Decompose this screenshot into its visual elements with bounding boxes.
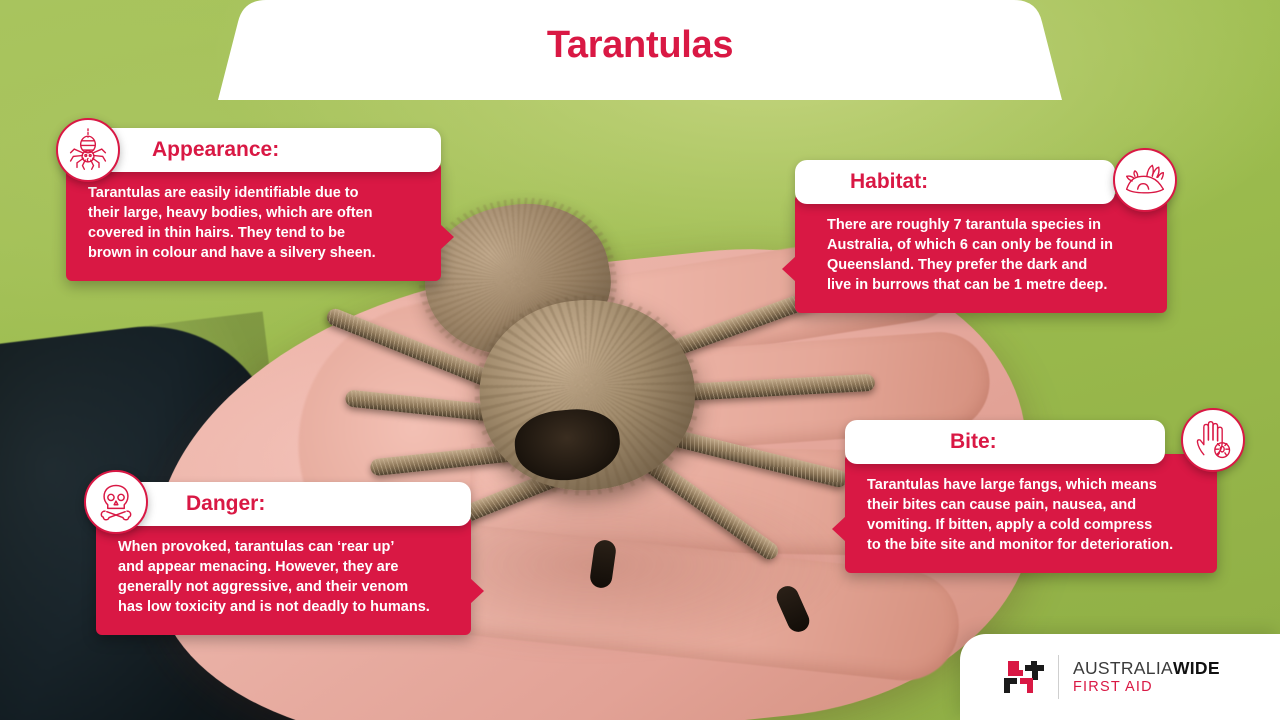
spider-icon bbox=[56, 118, 120, 182]
tarantula-leg-tip bbox=[589, 539, 617, 590]
info-card-danger: Danger: When provoked, tarantulas can ‘r… bbox=[96, 482, 471, 635]
card-body-bite: Tarantulas have large fangs, which means… bbox=[845, 454, 1217, 573]
hand-bite-icon bbox=[1181, 408, 1245, 472]
card-title-habitat: Habitat: bbox=[795, 160, 1115, 204]
card-text-line: and appear menacing. However, they are bbox=[118, 558, 449, 578]
burrow-icon bbox=[1113, 148, 1177, 212]
info-card-habitat: Habitat: There are roughly 7 tarantula s… bbox=[795, 160, 1167, 313]
page-title: Tarantulas bbox=[0, 24, 1280, 67]
card-text-line: Queensland. They prefer the dark and bbox=[827, 256, 1145, 276]
logo-name-part1: AUSTRALIA bbox=[1073, 658, 1173, 678]
info-card-appearance: Appearance: Tarantulas are easily identi… bbox=[66, 128, 441, 281]
card-title-danger: Danger: bbox=[96, 482, 471, 526]
card-text-line: Australia, of which 6 can only be found … bbox=[827, 236, 1145, 256]
card-text-line: their bites can cause pain, nausea, and bbox=[867, 496, 1195, 516]
card-title-bite: Bite: bbox=[845, 420, 1165, 464]
card-text-line: Tarantulas are easily identifiable due t… bbox=[88, 184, 419, 204]
skull-crossbones-icon bbox=[84, 470, 148, 534]
logo-wordmark: AUSTRALIAWIDE FIRST AID bbox=[1073, 659, 1220, 696]
card-tail bbox=[782, 256, 796, 282]
card-text-line: has low toxicity and is not deadly to hu… bbox=[118, 598, 449, 618]
card-text-line: to the bite site and monitor for deterio… bbox=[867, 536, 1195, 556]
card-body-appearance: Tarantulas are easily identifiable due t… bbox=[66, 162, 441, 281]
logo-divider bbox=[1058, 655, 1059, 699]
card-title-appearance: Appearance: bbox=[66, 128, 441, 172]
card-tail bbox=[832, 516, 846, 542]
card-body-danger: When provoked, tarantulas can ‘rear up’ … bbox=[96, 516, 471, 635]
card-body-habitat: There are roughly 7 tarantula species in… bbox=[795, 194, 1167, 313]
card-text-line: their large, heavy bodies, which are oft… bbox=[88, 204, 419, 224]
card-text-line: brown in colour and have a silvery sheen… bbox=[88, 244, 419, 264]
four-quadrant-cross-logo-icon bbox=[1004, 657, 1044, 697]
card-text-line: covered in thin hairs. They tend to be bbox=[88, 224, 419, 244]
card-text-line: There are roughly 7 tarantula species in bbox=[827, 216, 1145, 236]
card-text-line: When provoked, tarantulas can ‘rear up’ bbox=[118, 538, 449, 558]
card-text-line: Tarantulas have large fangs, which means bbox=[867, 476, 1195, 496]
logo-tagline: FIRST AID bbox=[1073, 680, 1220, 695]
card-text-line: live in burrows that can be 1 metre deep… bbox=[827, 276, 1145, 296]
logo-name-part2: WIDE bbox=[1173, 658, 1220, 678]
info-card-bite: Bite: Tarantulas have large fangs, which… bbox=[845, 420, 1217, 573]
card-tail bbox=[470, 578, 484, 604]
card-text-line: generally not aggressive, and their veno… bbox=[118, 578, 449, 598]
brand-logo-panel[interactable]: AUSTRALIAWIDE FIRST AID bbox=[960, 634, 1280, 720]
card-text-line: vomiting. If bitten, apply a cold compre… bbox=[867, 516, 1195, 536]
card-tail bbox=[440, 224, 454, 250]
